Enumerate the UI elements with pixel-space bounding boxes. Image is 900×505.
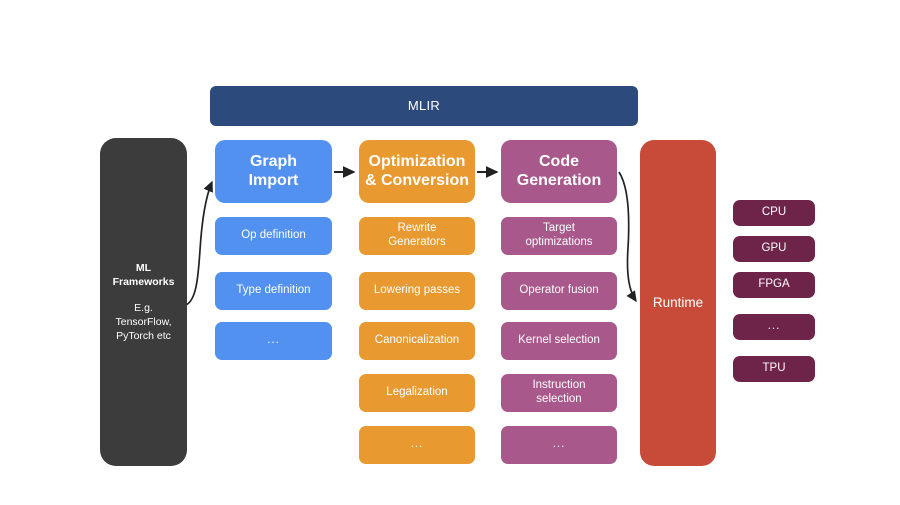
optimization-item-legalization[interactable]: Legalization [359,374,475,412]
mlir-title-bar: MLIR [210,86,638,126]
arrow-frameworks-to-graph-import [186,182,212,305]
graph-import-item-op-definition[interactable]: Op definition [215,217,332,255]
target-more[interactable]: ... [733,314,815,340]
codegen-item-more[interactable]: ... [501,426,617,464]
diagram-canvas: MLIR ML Frameworks E.g. TensorFlow, PyTo… [0,0,900,505]
ml-frameworks-title: ML Frameworks [113,261,175,289]
codegen-item-operator-fusion[interactable]: Operator fusion [501,272,617,310]
ml-frameworks-subtitle: E.g. TensorFlow, PyTorch etc [115,301,171,344]
optimization-item-more[interactable]: ... [359,426,475,464]
target-fpga[interactable]: FPGA [733,272,815,298]
target-gpu[interactable]: GPU [733,236,815,262]
stage-header-optimization-conversion[interactable]: Optimization & Conversion [359,140,475,203]
graph-import-item-type-definition[interactable]: Type definition [215,272,332,310]
arrow-codegen-to-runtime [619,172,636,301]
target-cpu[interactable]: CPU [733,200,815,226]
ml-frameworks-block: ML Frameworks E.g. TensorFlow, PyTorch e… [100,138,187,466]
runtime-block[interactable]: Runtime [640,140,716,466]
optimization-item-lowering-passes[interactable]: Lowering passes [359,272,475,310]
stage-header-graph-import[interactable]: Graph Import [215,140,332,203]
stage-header-code-generation[interactable]: Code Generation [501,140,617,203]
codegen-item-target-optimizations[interactable]: Target optimizations [501,217,617,255]
codegen-item-kernel-selection[interactable]: Kernel selection [501,322,617,360]
codegen-item-instruction-selection[interactable]: Instruction selection [501,374,617,412]
graph-import-item-more[interactable]: ... [215,322,332,360]
optimization-item-rewrite-generators[interactable]: Rewrite Generators [359,217,475,255]
optimization-item-canonicalization[interactable]: Canonicalization [359,322,475,360]
target-tpu[interactable]: TPU [733,356,815,382]
